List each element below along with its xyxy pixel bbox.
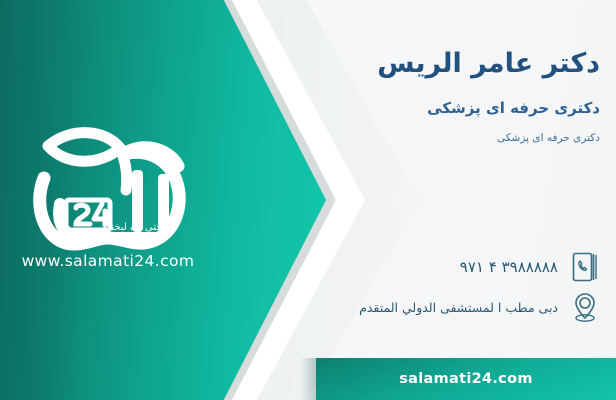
address-text: دبی مطب ا لمستشفى الدولي المتقدم [359, 300, 558, 315]
footer-website: salamati24.com [399, 371, 533, 387]
contact-address-row: دبی مطب ا لمستشفى الدولي المتقدم [359, 290, 602, 324]
map-pin-icon [568, 290, 602, 324]
doctor-specialty-secondary: دکتری حرفه ای پزشکی [220, 132, 600, 144]
business-card: www.salamati24.com براحتی یک لبخند دکتر … [0, 0, 616, 400]
doctor-specialty-primary: دکتری حرفه ای پزشکی [220, 99, 600, 117]
phone-number: ۳۹۸۸۸۸۸ ۴ ۹۷۱ [460, 258, 558, 276]
brand-tagline: براحتی یک لبخند [106, 222, 174, 233]
brand-logo: www.salamati24.com [8, 112, 220, 282]
logo-badge-24 [66, 200, 110, 230]
doctor-name: دکتر عامر الریس [220, 48, 600, 79]
logo-website-url: www.salamati24.com [8, 252, 208, 270]
phone-book-icon [568, 250, 602, 284]
contact-phone-row: ۳۹۸۸۸۸۸ ۴ ۹۷۱ [460, 250, 602, 284]
bottom-bar: salamati24.com [316, 358, 616, 400]
salamati24-apple-logo [8, 112, 220, 262]
